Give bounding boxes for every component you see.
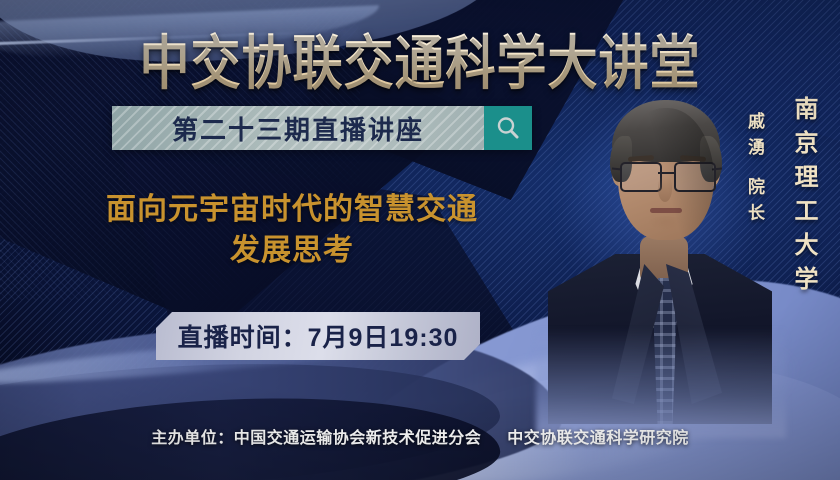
- lecture-topic-line2: 发展思考: [42, 231, 542, 272]
- lecture-topic: 面向元宇宙时代的智慧交通 发展思考: [42, 190, 542, 272]
- page-title: 中交协联交通科学大讲堂: [0, 16, 840, 101]
- episode-banner-body: 第二十三期直播讲座: [112, 106, 484, 150]
- episode-label: 第二十三期直播讲座: [172, 110, 424, 147]
- episode-banner: 第二十三期直播讲座: [112, 106, 532, 150]
- speaker-name-title: 戚湧 院长: [742, 112, 767, 230]
- organizer-org-2: 中交协联交通科学研究院: [507, 430, 689, 447]
- search-icon: [494, 114, 522, 142]
- organizer-footer: 主办单位：中国交通运输协会新技术促进分会中交协联交通科学研究院: [0, 424, 840, 448]
- search-button[interactable]: [484, 106, 532, 150]
- speaker-affiliation: 南京理工大学: [786, 96, 821, 300]
- broadcast-time-badge: 直播时间：7月9日19:30: [156, 312, 480, 360]
- lecture-topic-line1: 面向元宇宙时代的智慧交通: [42, 190, 542, 231]
- portrait-shading: [618, 108, 714, 240]
- portrait-bottom-fade: [536, 328, 786, 438]
- speaker-portrait: [556, 78, 762, 408]
- broadcast-time-text: 直播时间：7月9日19:30: [178, 318, 459, 354]
- organizer-prefix: 主办单位：: [151, 430, 234, 447]
- live-lecture-poster: 中交协联交通科学大讲堂 第二十三期直播讲座 面向元宇宙时代的智慧交通 发展思考 …: [0, 0, 840, 480]
- organizer-org-1: 中国交通运输协会新技术促进分会: [234, 430, 482, 447]
